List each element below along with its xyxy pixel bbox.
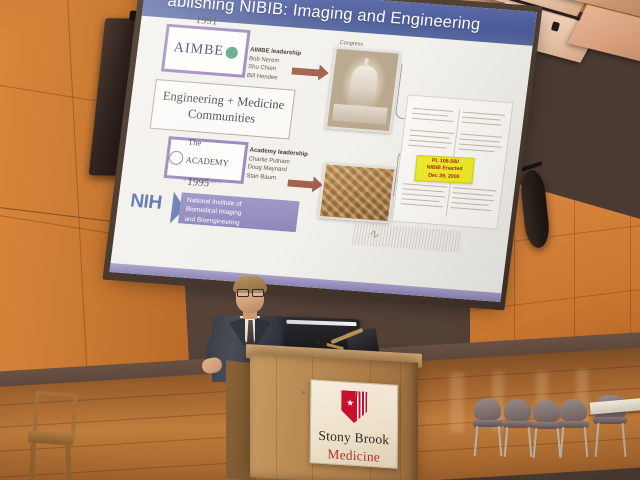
aimbe-logo-mark — [225, 46, 238, 59]
podium-sign: ★ Stony Brook Medicine — [310, 379, 399, 469]
aimbe-leader-1: Bob Nerem — [249, 56, 280, 64]
public-law-highlight: PL 106-580 NIBIB Enacted Dec 29, 2000 — [414, 155, 475, 184]
sign-screw — [404, 396, 407, 399]
aimbe-leadership: AIMBE leadership Bob Nerem Shu Chien Bil… — [246, 46, 301, 84]
podium-sign-line-1: Stony Brook — [318, 428, 389, 449]
nih-campus-photo — [318, 162, 397, 223]
academy-logo-text: The ACADEMY — [185, 137, 229, 168]
stony-brook-shield-icon: ★ — [341, 390, 367, 424]
slide-surface: ablishing NIBIB: Imaging and Engineering… — [109, 0, 537, 302]
academy-leader-3: Stan Baum — [246, 173, 276, 181]
public-law-document: PL 106-580 NIBIB Enacted Dec 29, 2000 — [392, 94, 514, 229]
institute-line-3: and Bioengineering — [184, 215, 240, 226]
lecture-hall-photo: ablishing NIBIB: Imaging and Engineering… — [0, 0, 640, 480]
academy-leader-1: Charlie Putnam — [248, 156, 290, 165]
communities-box: Engineering + Medicine Communities — [150, 79, 296, 139]
projection-screen: ablishing NIBIB: Imaging and Engineering… — [109, 0, 537, 302]
glasses-icon — [237, 289, 264, 295]
nibib-logo: NIH National Institute of Biomedical Ima… — [128, 187, 302, 234]
academy-logo-mark — [168, 150, 184, 165]
nibib-institute-name: National Institute of Biomedical Imaging… — [178, 192, 300, 232]
aimbe-leader-3: Bill Hendee — [247, 73, 278, 81]
sign-screw — [302, 391, 305, 394]
highlight-line-3: Dec 29, 2000 — [428, 172, 460, 181]
aimbe-logo: AIMBE — [161, 24, 251, 78]
congress-photo — [325, 47, 401, 133]
aimbe-logo-text: AIMBE — [173, 40, 225, 60]
academy-year: 1995 — [186, 176, 209, 190]
arrow-academy-to-nih — [287, 179, 314, 188]
signature-flourish: ∿ — [367, 226, 380, 243]
aimbe-leader-2: Shu Chien — [248, 64, 277, 72]
academy-leader-2: Doug Maynard — [247, 165, 287, 174]
wooden-chair[interactable] — [28, 392, 74, 478]
nih-wordmark: NIH — [129, 190, 163, 214]
podium-sign-line-2: Medicine — [327, 446, 380, 465]
